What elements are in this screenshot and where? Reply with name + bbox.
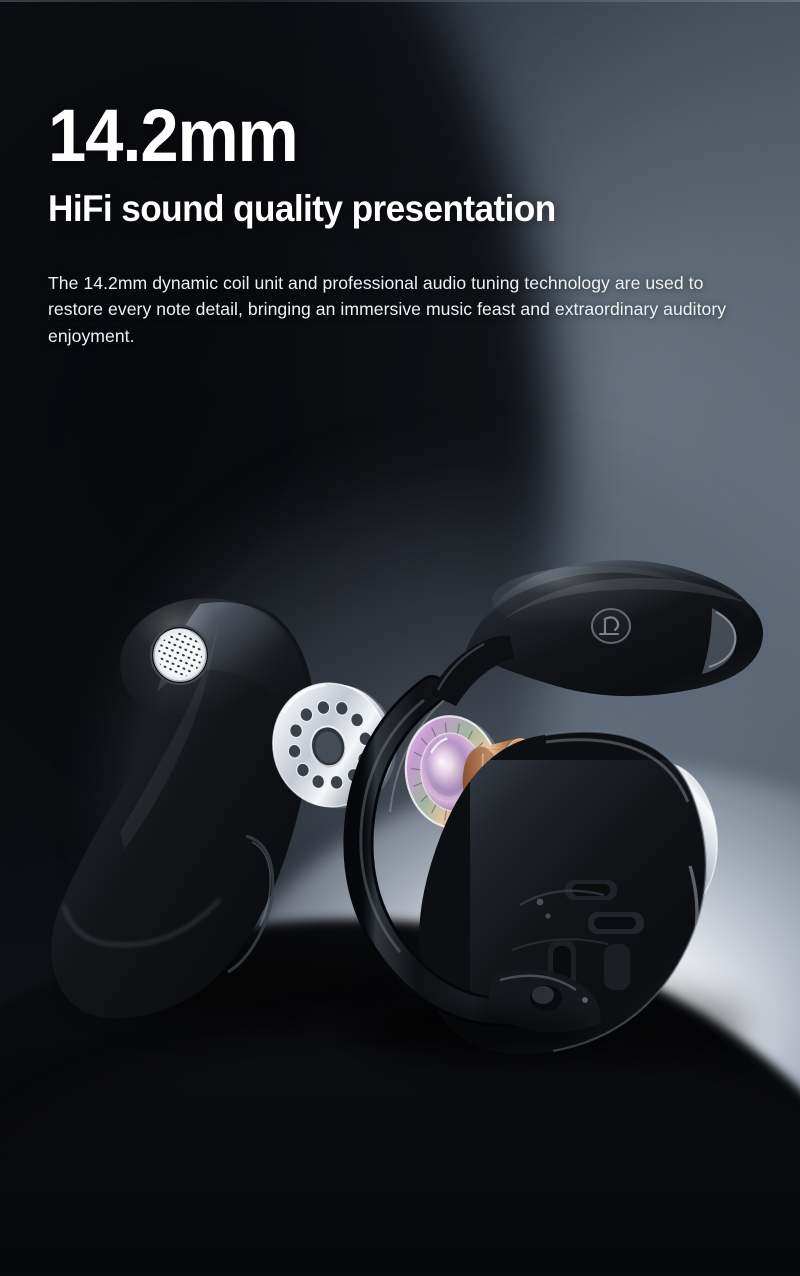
shadow-hook bbox=[350, 1010, 590, 1050]
battery-pod bbox=[466, 560, 763, 696]
subheadline: HiFi sound quality presentation bbox=[48, 189, 713, 228]
body-paragraph: The 14.2mm dynamic coil unit and profess… bbox=[48, 270, 738, 349]
mic-grille-icon bbox=[151, 626, 209, 684]
headline: 14.2mm bbox=[48, 100, 699, 173]
copy-block: 14.2mm HiFi sound quality presentation T… bbox=[48, 100, 748, 349]
product-banner: 14.2mm HiFi sound quality presentation T… bbox=[0, 0, 800, 1276]
pod-logo-icon bbox=[592, 609, 630, 643]
